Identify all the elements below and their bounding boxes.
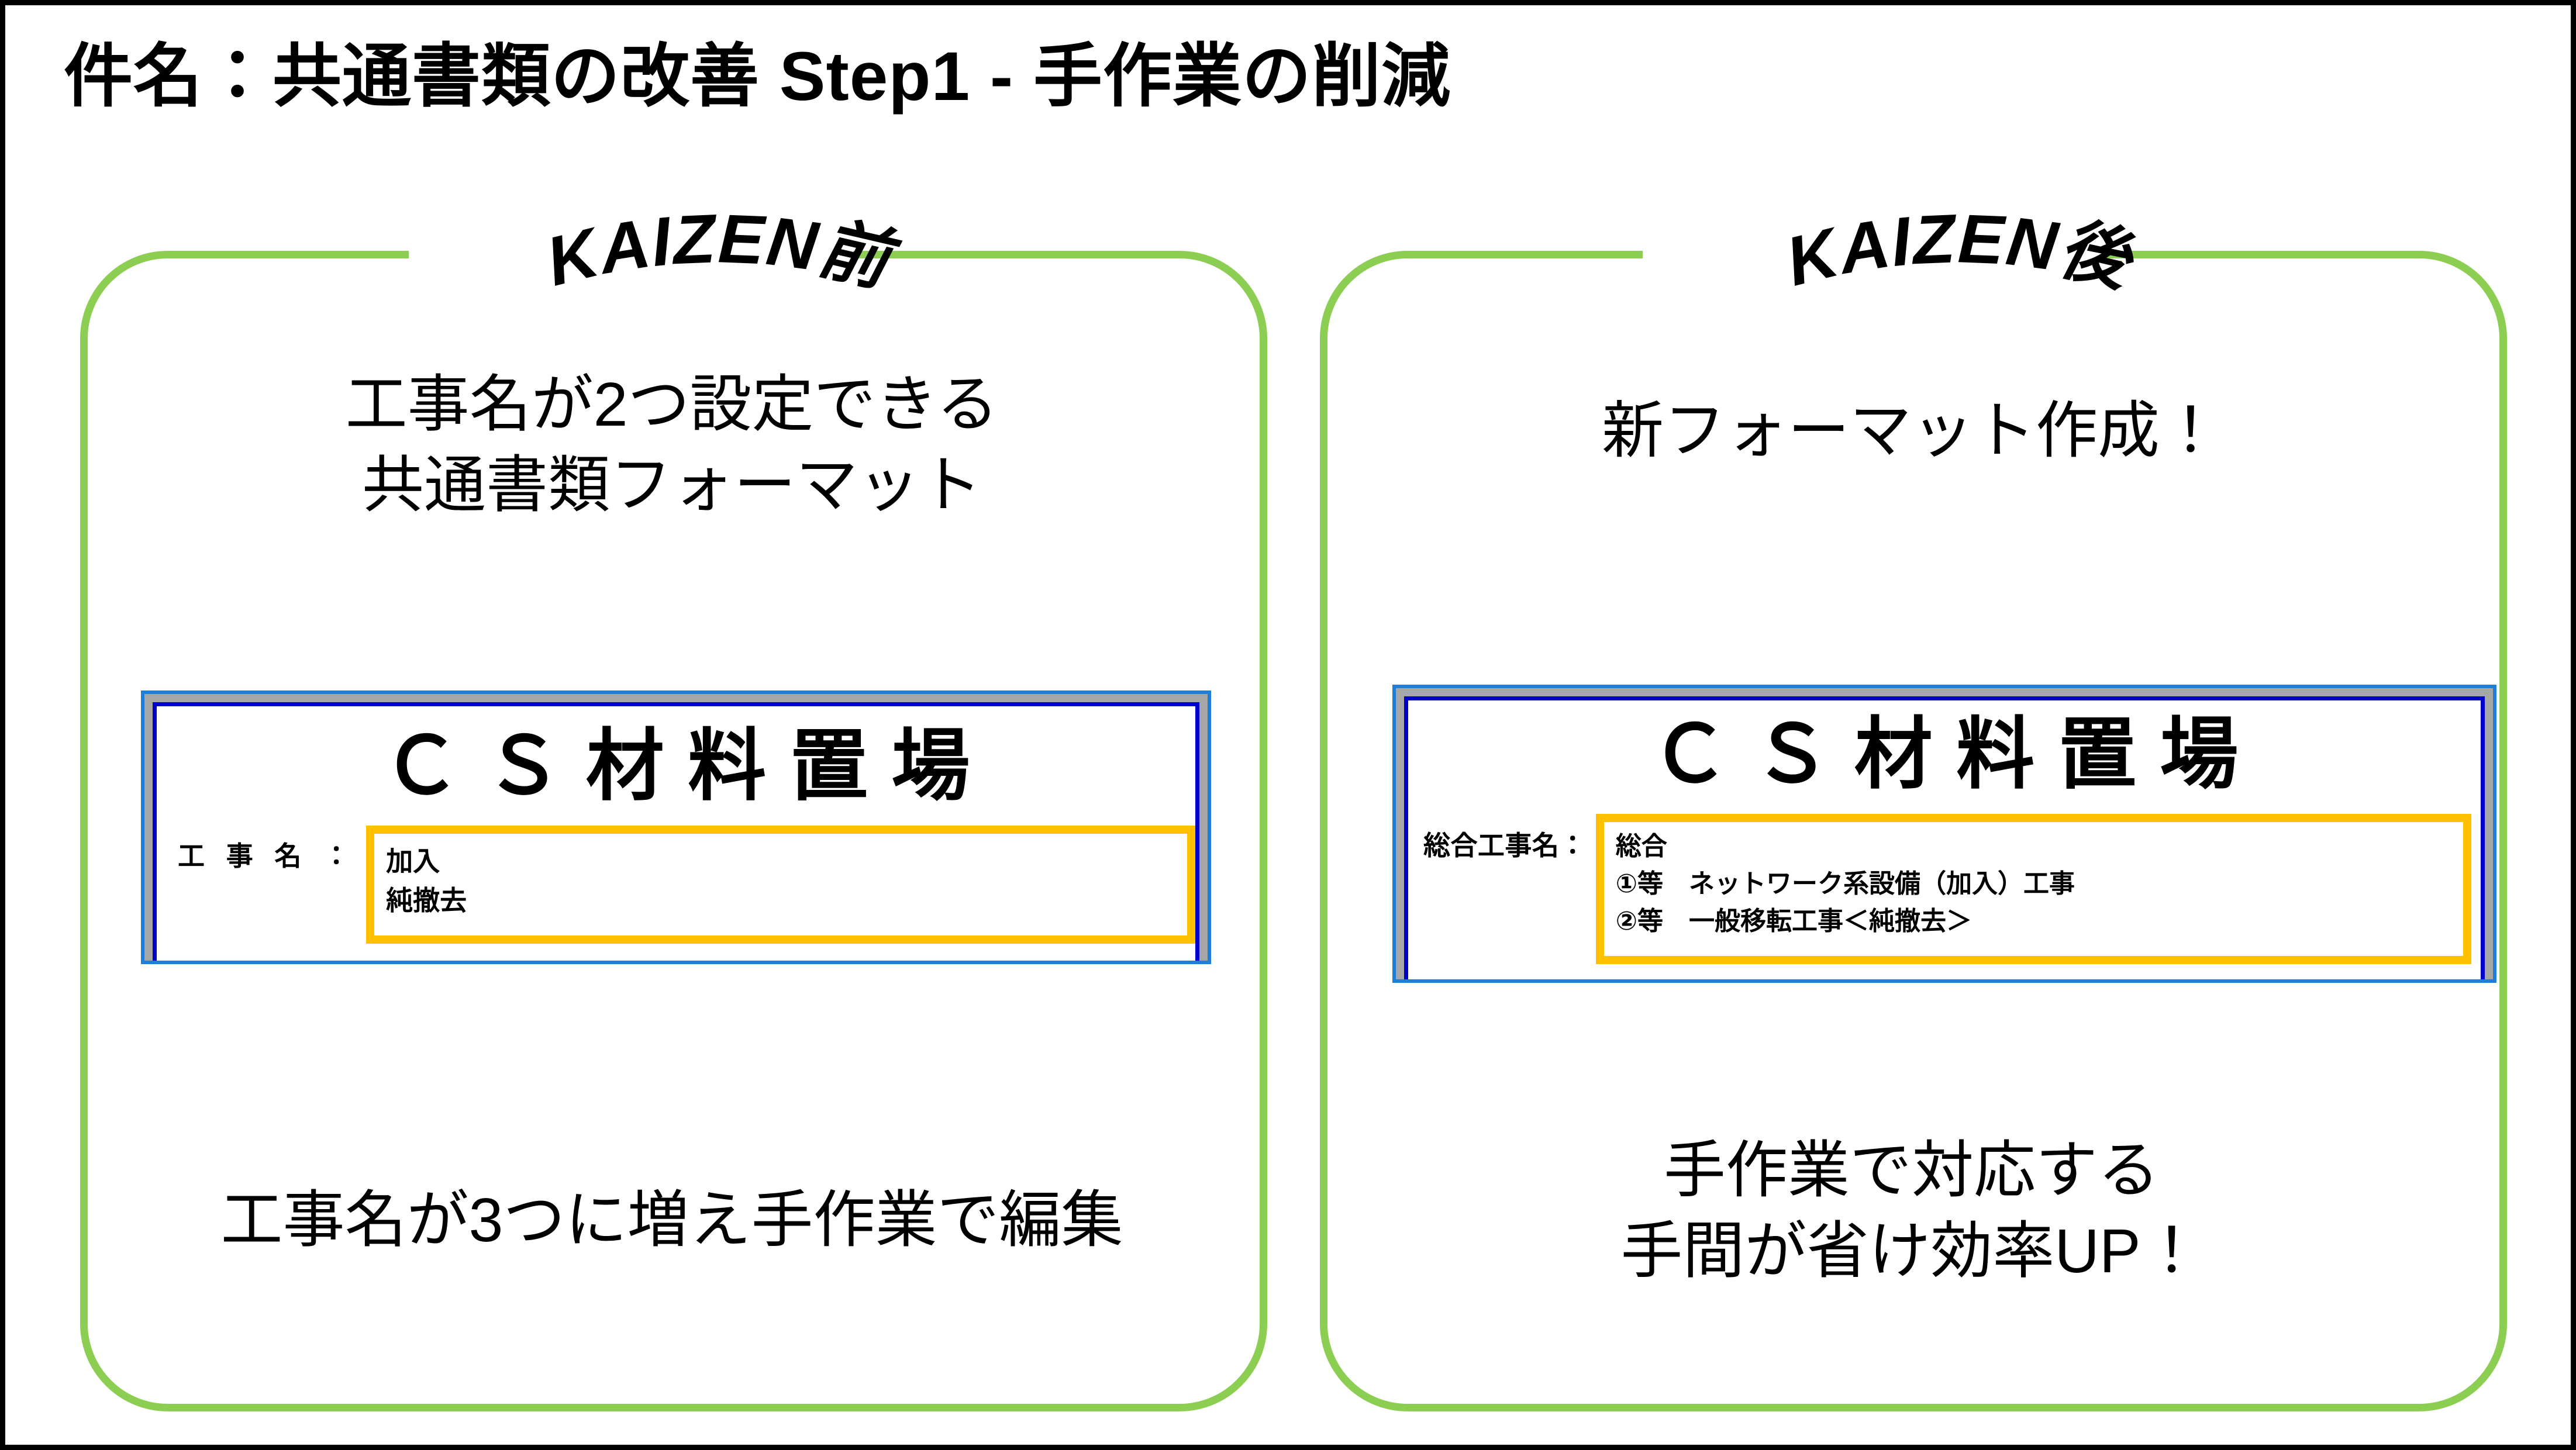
document-after-highlight-box: 総合 ①等 ネットワーク系設備（加入）工事 ②等 一般移転工事＜純撤去＞ xyxy=(1596,814,2471,964)
document-after-value-line: ②等 一般移転工事＜純撤去＞ xyxy=(1616,903,2451,940)
document-after-heading: ＣＳ材料置場 xyxy=(1408,700,2481,794)
document-before: ＣＳ材料置場 工 事 名 ： 加入 純撤去 xyxy=(141,691,1211,964)
panel-after-label-gap xyxy=(1643,238,2105,265)
page-title: 件名：共通書類の改善 Step1 - 手作業の削減 xyxy=(64,37,1451,117)
document-before-value-line: 純撤去 xyxy=(386,881,1175,920)
document-before-heading: ＣＳ材料置場 xyxy=(157,706,1195,806)
panel-before-label-gap xyxy=(409,238,853,265)
panel-before-top-text: 工事名が2つ設定できる 共通書類フォーマット xyxy=(99,365,1245,526)
document-before-highlight-box: 加入 純撤去 xyxy=(366,826,1195,944)
panel-before-bottom-text: 工事名が3つに増え手作業で編集 xyxy=(99,1180,1245,1261)
panel-after-bottom-text: 手作業で対応する 手間が省け効率UP！ xyxy=(1339,1131,2485,1292)
document-after-value-line: 総合 xyxy=(1616,828,2451,865)
document-after-page: ＣＳ材料置場 総合工事名： 総合 ①等 ネットワーク系設備（加入）工事 ②等 一… xyxy=(1404,696,2485,979)
panel-after-top-text: 新フォーマット作成！ xyxy=(1339,391,2485,472)
document-after-field-row: 総合工事名： 総合 ①等 ネットワーク系設備（加入）工事 ②等 一般移転工事＜純… xyxy=(1408,814,2481,964)
document-after-value-line: ①等 ネットワーク系設備（加入）工事 xyxy=(1616,865,2451,903)
document-before-field-label: 工 事 名 ： xyxy=(178,826,357,874)
document-before-field-row: 工 事 名 ： 加入 純撤去 xyxy=(157,826,1195,944)
slide-canvas: 件名：共通書類の改善 Step1 - 手作業の削減 KAIZEN前 工事名が2つ… xyxy=(0,0,2576,1450)
document-after: ＣＳ材料置場 総合工事名： 総合 ①等 ネットワーク系設備（加入）工事 ②等 一… xyxy=(1392,685,2496,983)
document-before-value-line: 加入 xyxy=(386,842,1175,881)
document-after-field-label: 総合工事名： xyxy=(1423,814,1587,863)
document-before-page: ＣＳ材料置場 工 事 名 ： 加入 純撤去 xyxy=(153,702,1199,961)
